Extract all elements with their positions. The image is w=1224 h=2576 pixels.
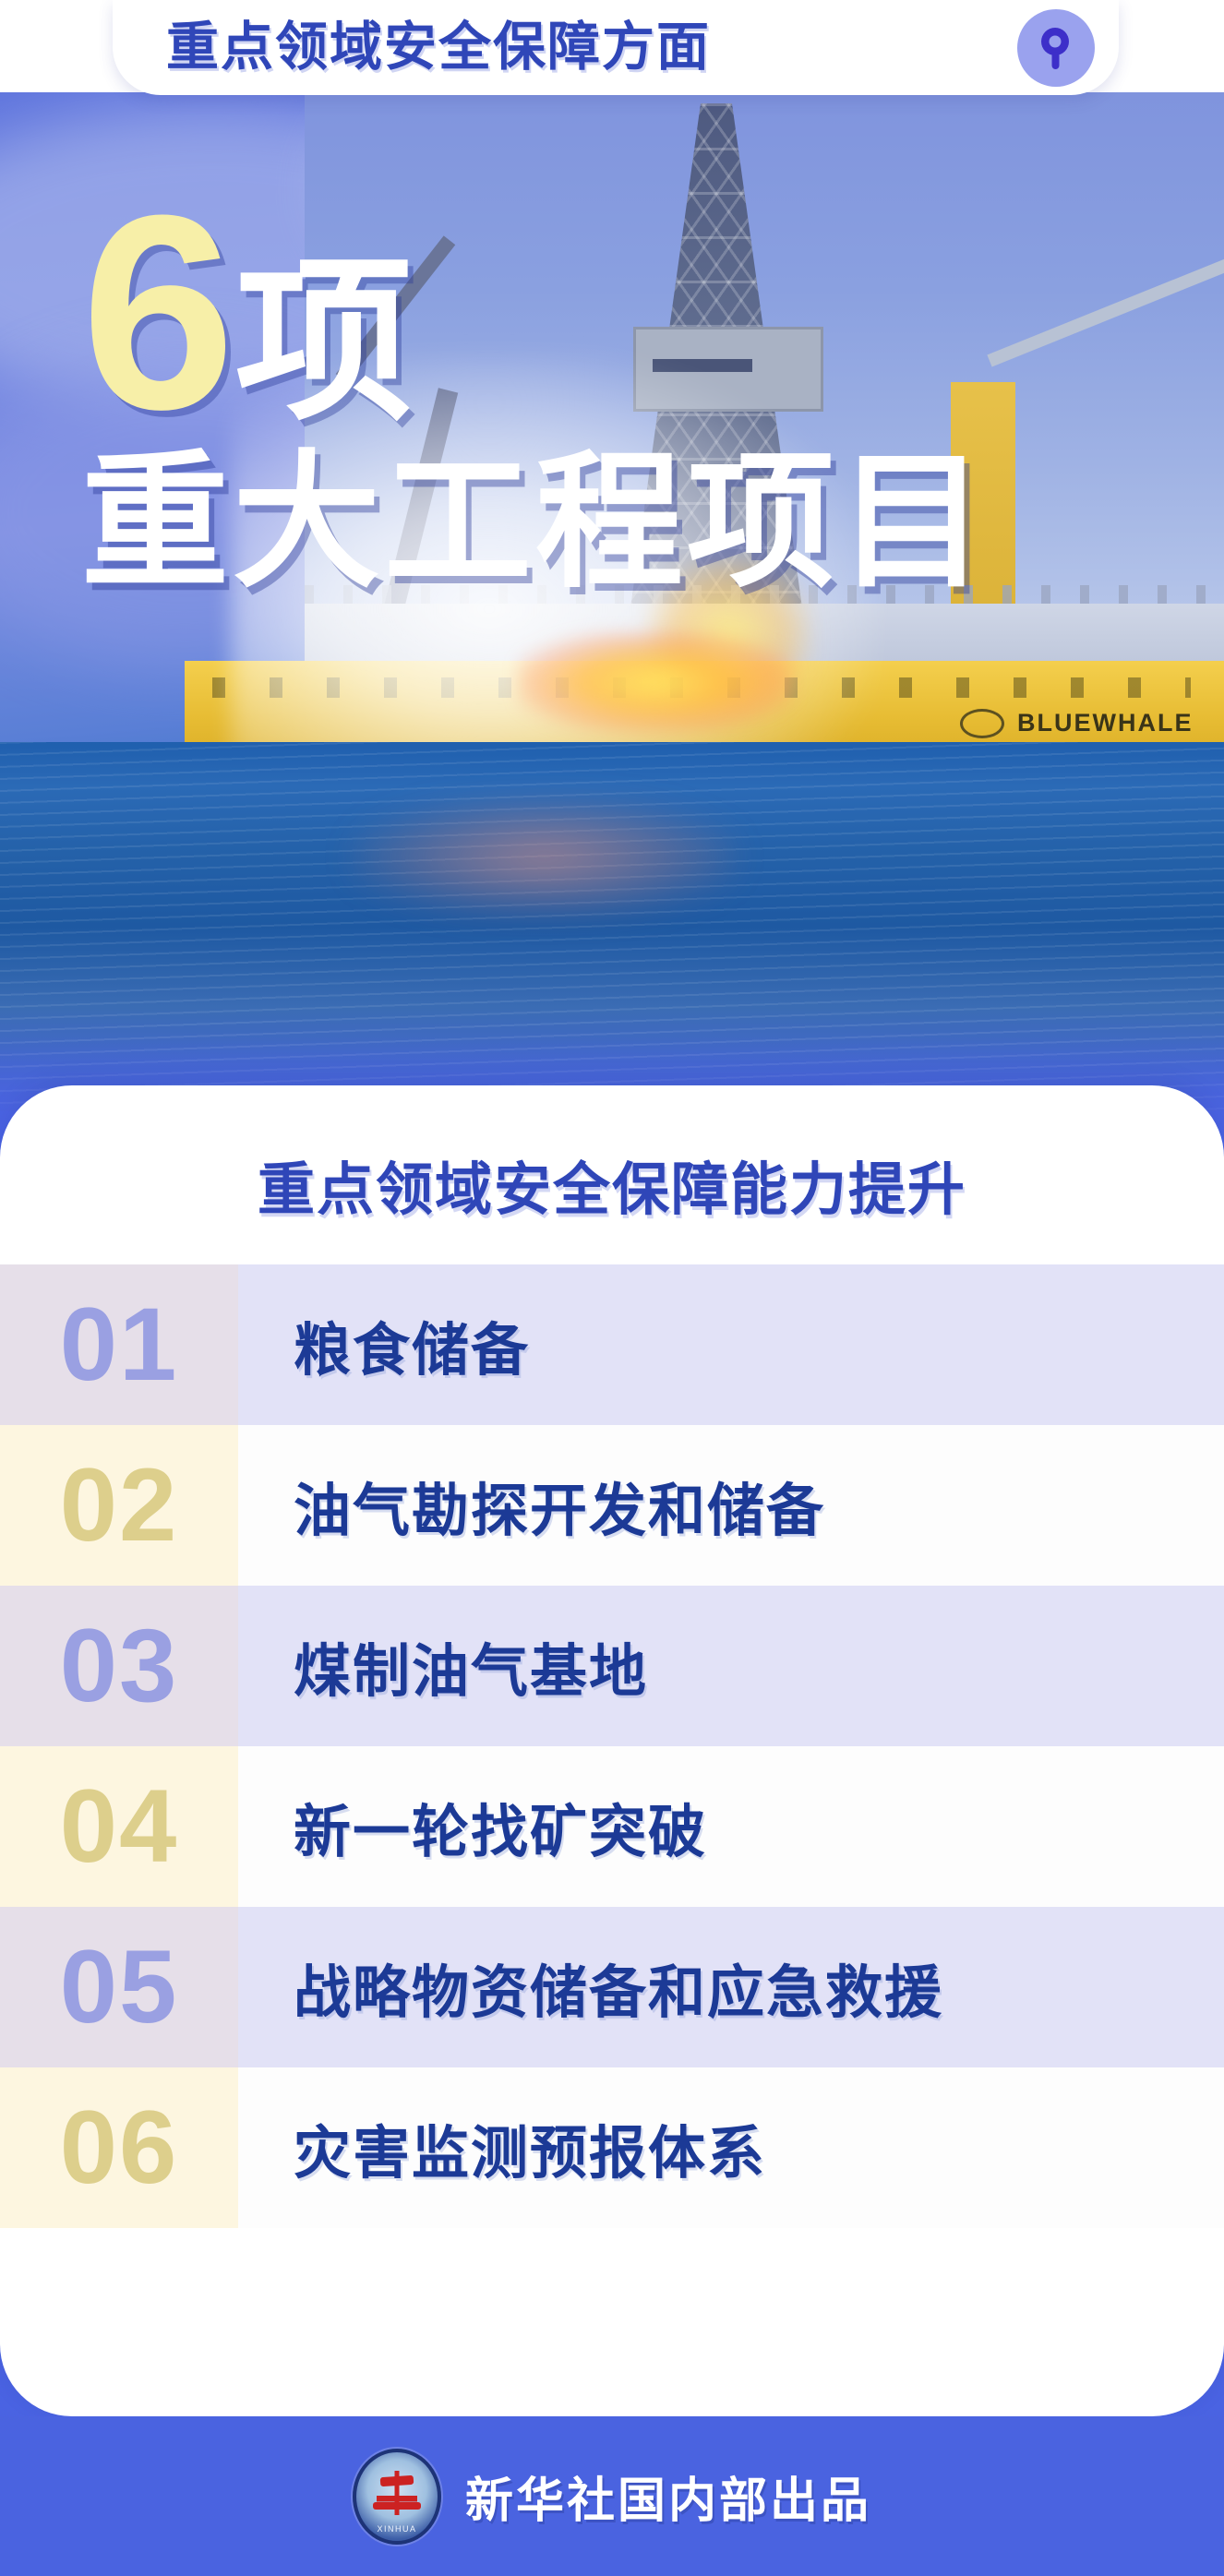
hull-name-text: BLUEWHALE	[1017, 709, 1193, 737]
headline-line-1: 6 项	[81, 185, 1224, 439]
list-item[interactable]: 02 油气勘探开发和储备	[0, 1425, 1224, 1586]
flare-flame	[517, 631, 794, 733]
xinhua-logo-text: XINHUA	[356, 2524, 438, 2534]
page-title: 重点领域安全保障方面	[166, 21, 1004, 74]
list-item[interactable]: 03 煤制油气基地	[0, 1586, 1224, 1746]
item-label: 煤制油气基地	[238, 1586, 1224, 1746]
headline-number: 6	[81, 185, 230, 439]
item-number: 02	[0, 1425, 238, 1586]
xinhua-emblem	[377, 2471, 417, 2515]
search-icon	[1017, 9, 1095, 87]
content-card: 重点领域安全保障能力提升 01 粮食储备 02 油气勘探开发和储备 03 煤制油…	[0, 1085, 1224, 2416]
footer-credit: 新华社国内部出品	[465, 2462, 871, 2531]
item-label: 新一轮找矿突破	[238, 1746, 1224, 1907]
sea-reflection-glow	[351, 797, 738, 917]
item-number: 04	[0, 1746, 238, 1907]
item-number: 05	[0, 1907, 238, 2067]
item-label: 油气勘探开发和储备	[238, 1425, 1224, 1586]
item-label: 战略物资储备和应急救援	[238, 1907, 1224, 2067]
infographic-poster: BLUEWHALE 6 项 重大工程项目 重点领域安全保障方面 重点领域安全保障…	[0, 0, 1224, 2576]
list-item[interactable]: 06 灾害监测预报体系	[0, 2067, 1224, 2228]
items-list: 01 粮食储备 02 油气勘探开发和储备 03 煤制油气基地 04 新一轮找矿突…	[0, 1264, 1224, 2228]
list-item[interactable]: 04 新一轮找矿突破	[0, 1746, 1224, 1907]
item-label: 粮食储备	[238, 1264, 1224, 1425]
header-pill: 重点领域安全保障方面	[113, 0, 1119, 95]
item-label: 灾害监测预报体系	[238, 2067, 1224, 2228]
list-item[interactable]: 01 粮食储备	[0, 1264, 1224, 1425]
headline-line-2: 重大工程项目	[81, 445, 1224, 600]
xinhua-logo-icon: XINHUA	[353, 2449, 441, 2545]
footer: XINHUA 新华社国内部出品	[0, 2416, 1224, 2576]
headline-unit: 项	[235, 261, 413, 425]
card-title: 重点领域安全保障能力提升	[0, 1085, 1224, 1264]
footer-content: XINHUA 新华社国内部出品	[353, 2449, 871, 2545]
item-number: 03	[0, 1586, 238, 1746]
list-item[interactable]: 05 战略物资储备和应急救援	[0, 1907, 1224, 2067]
item-number: 01	[0, 1264, 238, 1425]
item-number: 06	[0, 2067, 238, 2228]
hull-logo-badge	[960, 709, 1004, 738]
hero-headline: 6 项 重大工程项目	[0, 185, 1224, 600]
